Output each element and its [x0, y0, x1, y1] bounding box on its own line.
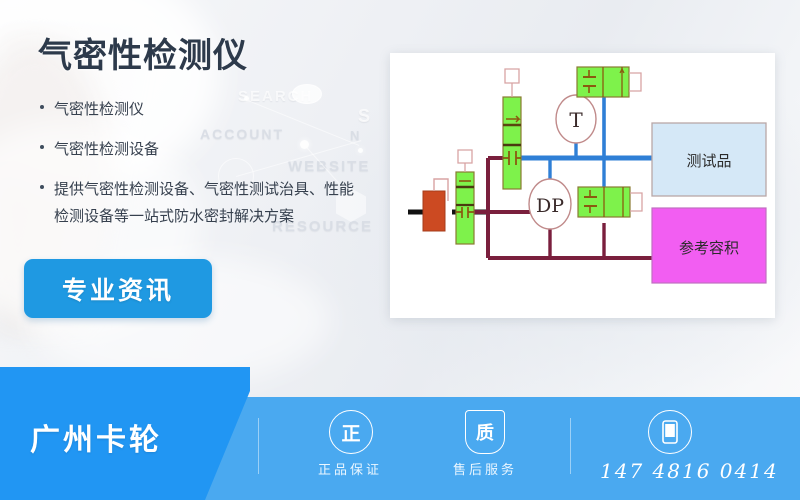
valve-stack-second — [503, 69, 521, 189]
footer-feature-authenticity: 正 正品保证 — [295, 410, 405, 478]
footer-divider-1 — [258, 418, 259, 474]
brand-name: 广州卡轮 — [30, 415, 162, 459]
authenticity-badge-icon: 正 — [329, 410, 371, 452]
reference-volume-label: 参考容积 — [679, 239, 739, 257]
phone-glyph — [662, 420, 678, 444]
authenticity-glyph: 正 — [329, 410, 373, 454]
dp-sensor-label: DP — [536, 195, 564, 217]
quality-glyph: 质 — [465, 410, 505, 454]
phone-icon-circle — [648, 410, 692, 454]
bullet-dot-icon — [40, 185, 44, 189]
cta-label: 专业资讯 — [62, 271, 174, 307]
pneumatic-diagram-panel: T DP — [390, 53, 775, 318]
footer-contact[interactable]: 147 4816 0414 — [600, 410, 800, 483]
bullet-text: 气密性检测设备 — [54, 136, 159, 162]
service-label: 售后服务 — [453, 459, 517, 478]
bullet-text: 气密性检测仪 — [54, 96, 144, 122]
test-part-label: 测试品 — [686, 152, 731, 170]
list-item: 气密性检测设备 — [34, 136, 364, 162]
temperature-sensor-label: T — [569, 108, 583, 132]
bullet-text: 提供气密性检测设备、气密性测试治具、性能检测设备等一站式防水密封解决方案 — [54, 176, 364, 230]
list-item: 气密性检测仪 — [34, 96, 364, 122]
valve-stack-left — [456, 150, 474, 244]
list-item: 提供气密性检测设备、气密性测试治具、性能检测设备等一站式防水密封解决方案 — [34, 176, 364, 230]
promo-banner: SEARCH ACCOUNT WEBSITE RESOURCE S N 气密性检… — [0, 0, 800, 500]
page-title: 气密性检测仪 — [38, 28, 248, 77]
dp-sensor: DP — [529, 179, 571, 229]
temperature-sensor: T — [556, 95, 596, 143]
test-part-box: 测试品 — [652, 123, 766, 196]
bullet-dot-icon — [40, 145, 44, 149]
mobile-phone-icon — [648, 410, 690, 452]
bullet-dot-icon — [40, 105, 44, 109]
valve-block-top — [577, 67, 641, 97]
pipe-network — [408, 97, 658, 258]
reference-volume-box: 参考容积 — [652, 208, 766, 283]
professional-info-button[interactable]: 专业资讯 — [24, 259, 212, 318]
phone-number: 147 4816 0414 — [600, 459, 779, 483]
pneumatic-circuit-diagram: T DP — [390, 53, 775, 318]
feature-bullet-list: 气密性检测仪 气密性检测设备 提供气密性检测设备、气密性测试治具、性能检测设备等… — [34, 96, 364, 244]
footer-feature-service: 质 售后服务 — [430, 410, 540, 478]
valve-block-mid — [578, 187, 642, 217]
quality-shield-icon: 质 — [464, 410, 506, 452]
authenticity-label: 正品保证 — [318, 459, 382, 478]
air-source-unit — [423, 179, 448, 231]
footer-divider-2 — [570, 418, 571, 474]
